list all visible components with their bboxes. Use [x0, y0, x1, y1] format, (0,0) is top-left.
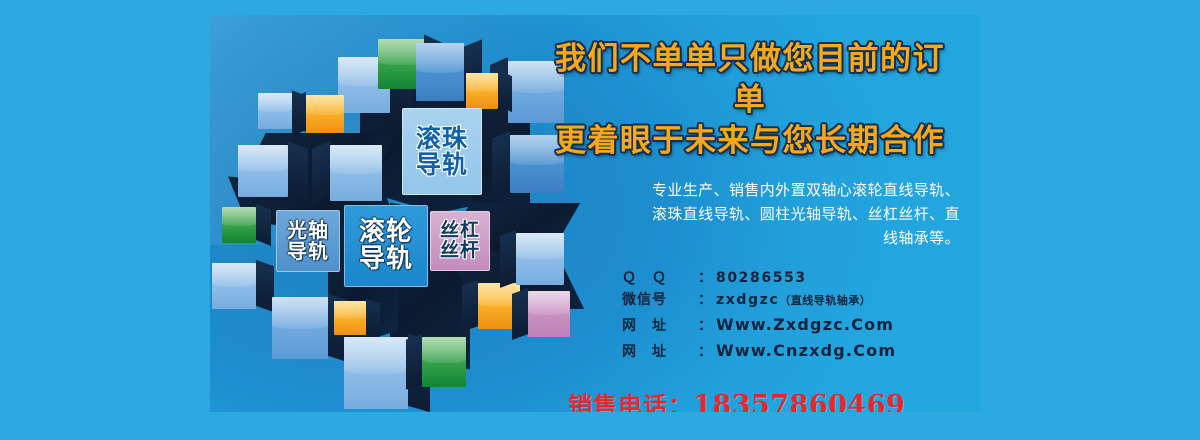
description-line-2: 滚珠直线导轨、圆柱光轴导轨、丝杠丝杆、直	[548, 202, 960, 226]
contact-label: Ｑ Ｑ	[622, 267, 698, 290]
product-tile-ball-guide[interactable]: 滚珠 导轨	[402, 108, 482, 195]
cube-face	[306, 95, 344, 133]
contact-label: 网 址	[622, 341, 698, 364]
description-line-1: 专业生产、销售内外置双轴心滚轮直线导轨、	[548, 178, 960, 202]
cube-face	[272, 297, 328, 359]
cube	[344, 337, 408, 409]
description-line-3: 线轴承等。	[548, 226, 960, 250]
cube-face	[330, 145, 382, 201]
cube-side	[312, 141, 330, 205]
headline-line-2: 更着眼于未来与您长期合作	[540, 121, 960, 162]
product-tile-line2: 导轨	[359, 246, 413, 273]
banner-page: 滚珠 导轨 光轴 导轨 滚轮 导轨 丝杠 丝杆 我们不单单只做您目前的订单 更着…	[0, 0, 1200, 440]
contact-value-qq[interactable]: 80286553	[716, 267, 807, 290]
contact-row-website-2: 网 址 ： Www.Cnzxdg.Com	[622, 338, 960, 364]
product-tile-line2: 丝杆	[440, 241, 480, 261]
cube-side	[256, 204, 271, 246]
contact-colon: ：	[698, 289, 712, 312]
product-tile-roller-guide[interactable]: 滚轮 导轨	[344, 205, 428, 287]
headline: 我们不单单只做您目前的订单 更着眼于未来与您长期合作	[540, 39, 960, 162]
cube	[466, 73, 498, 109]
banner-text-column: 我们不单单只做您目前的订单 更着眼于未来与您长期合作 专业生产、销售内外置双轴心…	[540, 39, 960, 412]
product-tile-line1: 光轴	[287, 220, 329, 241]
sales-phone-label: 销售电话：	[568, 392, 693, 412]
cube	[306, 95, 344, 133]
cube-side	[406, 334, 422, 389]
contact-colon: ：	[698, 267, 712, 290]
cube-side	[366, 299, 380, 338]
cube	[330, 145, 382, 201]
contact-colon: ：	[698, 315, 712, 338]
headline-line-1: 我们不单单只做您目前的订单	[540, 39, 960, 121]
cube-side	[462, 280, 478, 332]
cube-face	[344, 337, 408, 409]
cube	[222, 207, 256, 243]
contact-label: 网 址	[622, 315, 698, 338]
contact-block: Ｑ Ｑ ： 80286553 微信号 ： zxdgzc （直线导轨轴承） 网 址…	[540, 267, 960, 364]
sales-phone-number[interactable]: 18357860469	[693, 390, 905, 412]
cube-face	[258, 93, 292, 129]
cube-face	[422, 337, 466, 387]
contact-label: 微信号	[622, 289, 698, 312]
product-tile-line1: 滚轮	[359, 219, 413, 246]
contact-row-qq: Ｑ Ｑ ： 80286553	[622, 267, 960, 290]
product-tile-line2: 导轨	[287, 241, 329, 262]
cube-side	[492, 131, 510, 196]
contact-value-website-2[interactable]: Www.Cnzxdg.Com	[716, 338, 896, 364]
cube-face	[466, 73, 498, 109]
cube-face	[212, 263, 256, 309]
contact-note-wechat: （直线导轨轴承）	[779, 292, 871, 310]
cube	[422, 337, 466, 387]
product-tile-lead-screw[interactable]: 丝杠 丝杆	[430, 211, 490, 271]
promo-banner: 滚珠 导轨 光轴 导轨 滚轮 导轨 丝杠 丝杆 我们不单单只做您目前的订单 更着…	[210, 15, 980, 412]
cube-face	[222, 207, 256, 243]
contact-row-website-1: 网 址 ： Www.Zxdgzc.Com	[622, 312, 960, 338]
cube	[334, 301, 366, 335]
cube	[212, 263, 256, 309]
exploding-3d-cubes-illustration: 滚珠 导轨 光轴 导轨 滚轮 导轨 丝杠 丝杆	[210, 15, 570, 412]
cube	[416, 43, 464, 101]
cube-side	[512, 288, 528, 340]
cube-side	[498, 70, 512, 112]
cube-side	[292, 90, 306, 132]
contact-row-wechat: 微信号 ： zxdgzc （直线导轨轴承）	[622, 289, 960, 312]
cube	[258, 93, 292, 129]
contact-value-website-1[interactable]: Www.Zxdgzc.Com	[716, 312, 894, 338]
cube-face	[334, 301, 366, 335]
cube-face	[416, 43, 464, 101]
contact-colon: ：	[698, 341, 712, 364]
cube-side	[288, 141, 308, 201]
cube	[238, 145, 288, 197]
cube	[272, 297, 328, 359]
product-tile-line1: 滚珠	[416, 126, 468, 152]
product-tile-optical-shaft-guide[interactable]: 光轴 导轨	[276, 210, 340, 272]
product-tile-line2: 导轨	[416, 152, 468, 178]
cube-side	[500, 230, 516, 288]
sales-phone[interactable]: 销售电话：18357860469	[540, 386, 960, 412]
cube-face	[238, 145, 288, 197]
contact-value-wechat[interactable]: zxdgzc	[716, 289, 779, 312]
description: 专业生产、销售内外置双轴心滚轮直线导轨、 滚珠直线导轨、圆柱光轴导轨、丝杠丝杆、…	[540, 178, 960, 251]
